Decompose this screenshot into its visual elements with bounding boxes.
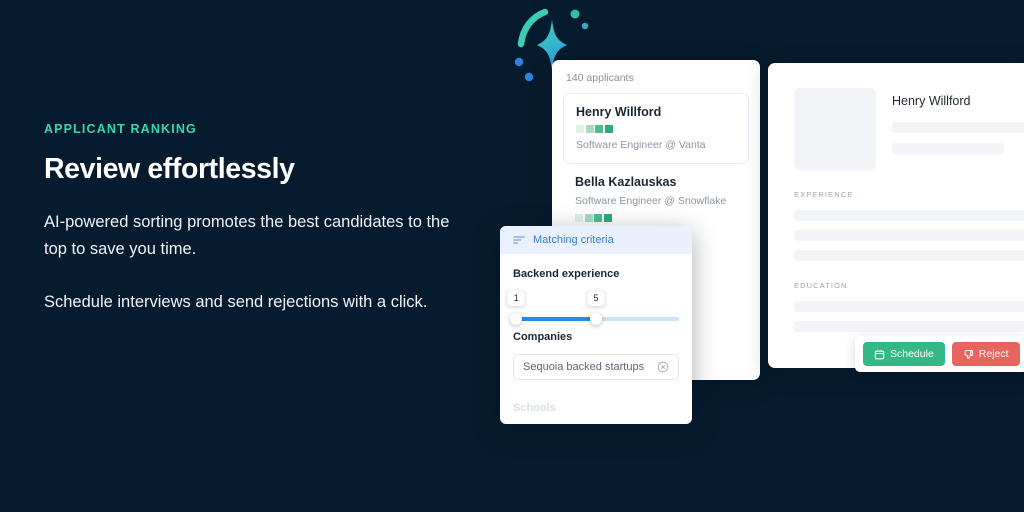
experience-section-label: EXPERIENCE [768, 190, 1024, 199]
schools-field-label: Schools [513, 402, 679, 414]
applicant-role: Software Engineer @ Snowflake [575, 195, 737, 207]
slider-fill [513, 317, 596, 321]
rating-bars [576, 125, 736, 133]
description-paragraph-2: Schedule interviews and send rejections … [44, 289, 464, 316]
skeleton-bar [794, 250, 1024, 261]
skeleton-bar [794, 230, 1024, 241]
description-paragraph-1: AI-powered sorting promotes the best can… [44, 209, 464, 263]
applicant-name: Henry Willford [576, 105, 736, 119]
thumbs-down-icon [963, 349, 974, 360]
slider-min-handle[interactable] [510, 313, 522, 325]
marketing-copy: APPLICANT RANKING Review effortlessly AI… [44, 122, 464, 316]
experience-range-slider[interactable]: 1 5 [513, 291, 679, 329]
list-item[interactable]: Bella Kazlauskas Software Engineer @ Sno… [563, 173, 749, 230]
action-bar: Schedule Reject [855, 336, 1024, 372]
schedule-button-label: Schedule [890, 348, 934, 360]
skeleton-bar [794, 301, 1024, 312]
reject-button[interactable]: Reject [952, 342, 1020, 366]
profile-name: Henry Willford [892, 94, 1024, 108]
companies-field-label: Companies [513, 331, 679, 343]
skeleton-bar [892, 143, 1004, 154]
slider-max-value: 5 [587, 291, 604, 306]
slider-min-value: 1 [508, 291, 525, 306]
schedule-button[interactable]: Schedule [863, 342, 945, 366]
avatar [794, 88, 876, 170]
criteria-header: Matching criteria [500, 226, 692, 254]
remove-circle-icon[interactable] [657, 361, 669, 373]
criteria-title: Matching criteria [533, 234, 614, 246]
matching-criteria-panel: Matching criteria Backend experience 1 5… [500, 226, 692, 424]
calendar-icon [874, 349, 885, 360]
skeleton-bar [794, 321, 1024, 332]
applicant-name: Bella Kazlauskas [575, 175, 737, 189]
profile-panel: Henry Willford EXPERIENCE EDUCATION [768, 63, 1024, 368]
reject-button-label: Reject [979, 348, 1009, 360]
company-chip-label: Sequoia backed startups [523, 361, 644, 373]
education-section-label: EDUCATION [768, 281, 1024, 290]
rating-bars [575, 214, 737, 222]
list-item[interactable]: Henry Willford Software Engineer @ Vanta [563, 93, 749, 164]
experience-field-label: Backend experience [513, 268, 679, 280]
applicant-role: Software Engineer @ Vanta [576, 139, 736, 151]
skeleton-bar [794, 210, 1024, 221]
filter-lines-icon [513, 235, 525, 245]
slider-max-handle[interactable] [590, 313, 602, 325]
eyebrow-label: APPLICANT RANKING [44, 122, 464, 136]
applicant-count: 140 applicants [552, 60, 760, 93]
page-title: Review effortlessly [44, 153, 464, 186]
skeleton-bar [892, 122, 1024, 133]
company-filter-chip[interactable]: Sequoia backed startups [513, 354, 679, 380]
